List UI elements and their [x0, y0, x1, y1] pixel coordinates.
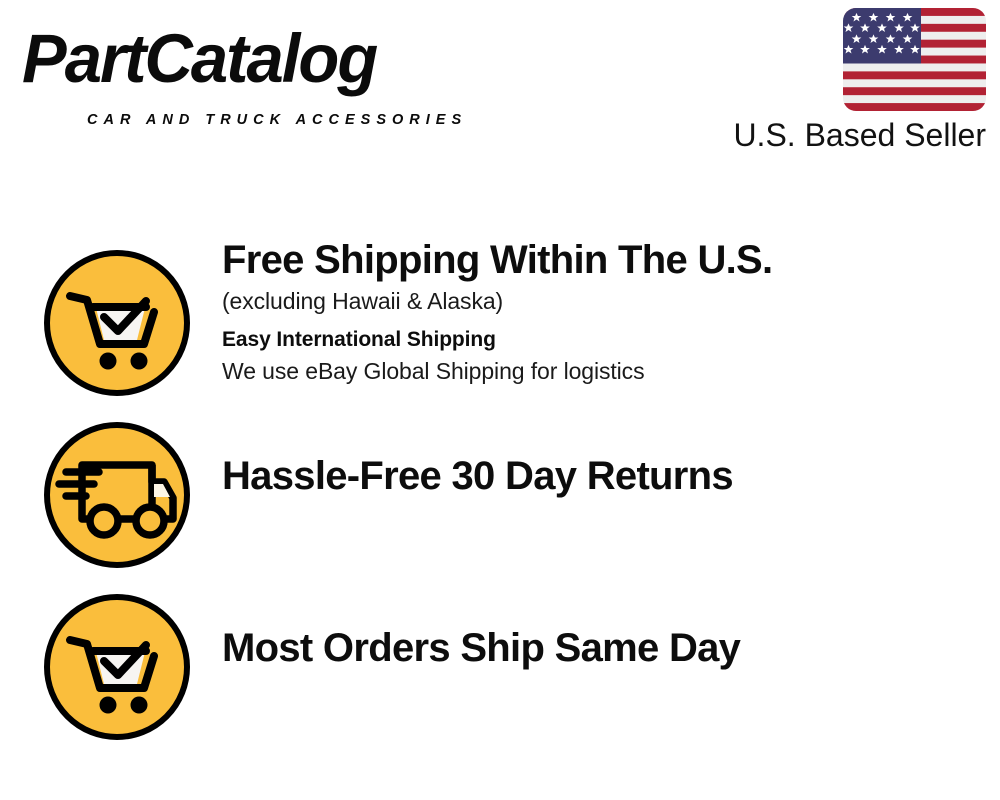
feature-text-block: Hassle-Free 30 Day Returns	[222, 408, 962, 501]
feature-subtitle: (excluding Hawaii & Alaska)	[222, 285, 962, 318]
shopping-cart-check-icon	[42, 592, 192, 742]
us-flag-icon	[843, 8, 986, 111]
feature-subtitle-bold: Easy International Shipping	[222, 324, 962, 355]
shipping-info-banner: PartCatalog CAR AND TRUCK ACCESSORIES	[0, 0, 1000, 800]
feature-title: Hassle-Free 30 Day Returns	[222, 452, 962, 501]
us-based-seller-label: U.S. Based Seller	[726, 116, 986, 154]
us-based-seller-badge: U.S. Based Seller	[726, 8, 986, 154]
delivery-truck-icon	[42, 420, 192, 570]
feature-text-block: Free Shipping Within The U.S. (excluding…	[222, 236, 962, 388]
shopping-cart-check-icon	[42, 248, 192, 398]
brand-tagline: CAR AND TRUCK ACCESSORIES	[87, 112, 467, 129]
feature-title: Most Orders Ship Same Day	[222, 624, 962, 673]
brand-wordmark: PartCatalog	[22, 22, 376, 96]
brand-logo: PartCatalog CAR AND TRUCK ACCESSORIES	[22, 22, 492, 117]
feature-title: Free Shipping Within The U.S.	[222, 236, 962, 285]
feature-subtitle-secondary: We use eBay Global Shipping for logistic…	[222, 355, 962, 388]
feature-text-block: Most Orders Ship Same Day	[222, 580, 962, 673]
